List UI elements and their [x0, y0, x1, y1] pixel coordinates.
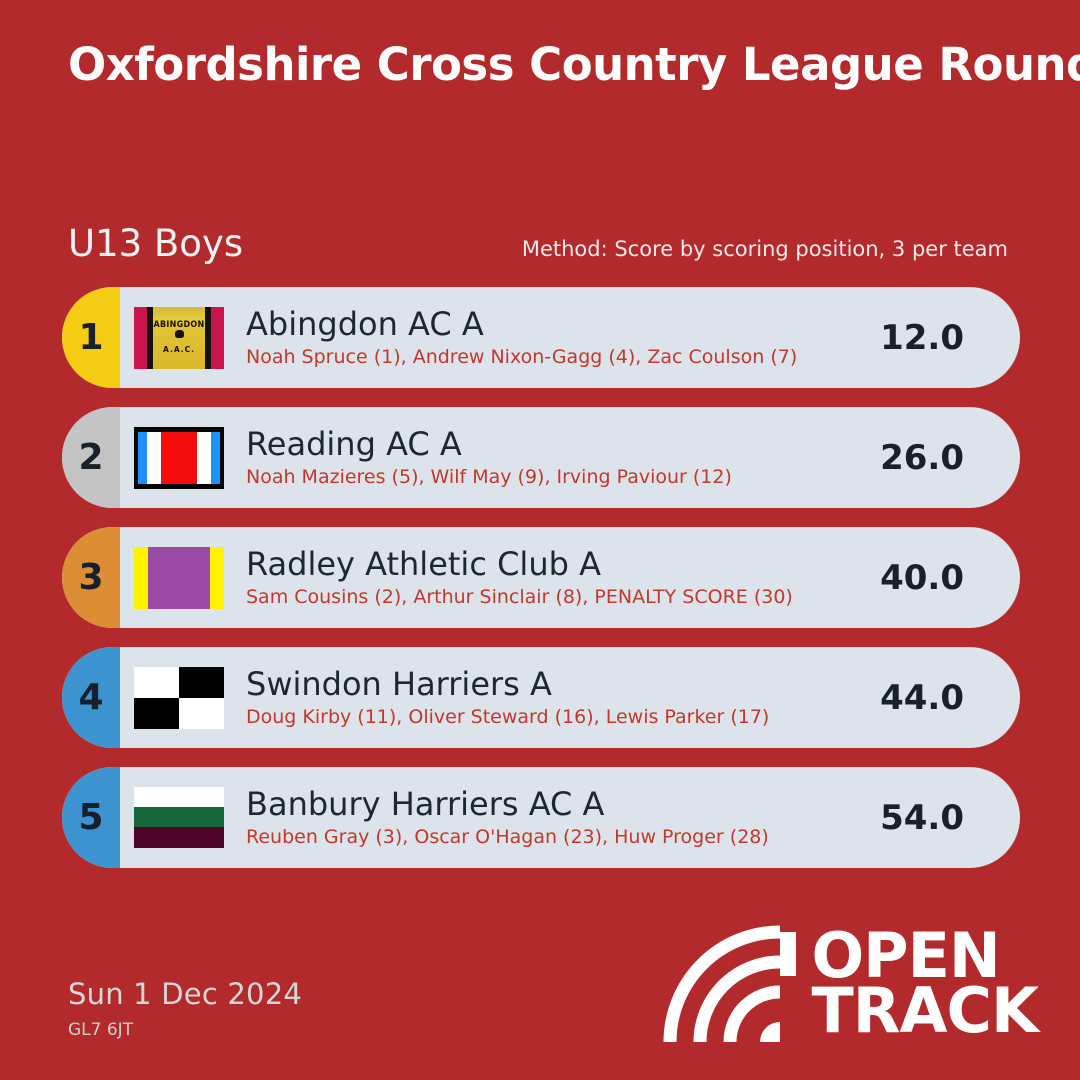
- abingdon-vest: ABINGDONA.A.C.: [134, 307, 224, 369]
- vest-band: [134, 787, 224, 807]
- team-name: Radley Athletic Club A: [246, 547, 880, 583]
- vest-stripe: [147, 432, 161, 484]
- vest-stripe: [211, 432, 220, 484]
- team-score: 40.0: [880, 558, 1020, 598]
- rank-badge: 1: [62, 287, 120, 388]
- vest-band: [134, 807, 224, 827]
- team-athletes: Sam Cousins (2), Arthur Sinclair (8), PE…: [246, 586, 880, 608]
- vest-square: [179, 667, 224, 698]
- rank-badge: 4: [62, 647, 120, 748]
- vest-shoulder: [153, 307, 204, 320]
- team-block: Radley Athletic Club ASam Cousins (2), A…: [246, 547, 880, 608]
- vest-square: [134, 667, 179, 698]
- logo-word-track: TRACK: [811, 984, 1038, 1039]
- team-block: Banbury Harriers AC AReuben Gray (3), Os…: [246, 787, 880, 848]
- category-name: U13 Boys: [68, 222, 243, 265]
- team-name: Banbury Harriers AC A: [246, 787, 880, 823]
- team-name: Abingdon AC A: [246, 307, 880, 343]
- vest-side-panel: [211, 307, 224, 369]
- vest-club-name: ABINGDON: [153, 321, 204, 329]
- rank-badge: 5: [62, 767, 120, 868]
- vest-trim: [205, 307, 212, 369]
- vest-stripe: [161, 432, 197, 484]
- vest-square: [134, 698, 179, 729]
- team-block: Swindon Harriers ADoug Kirby (11), Olive…: [246, 667, 880, 728]
- swindon-vest: [134, 667, 224, 729]
- team-score: 12.0: [880, 318, 1020, 358]
- logo-wordmark: OPEN TRACK: [811, 929, 1038, 1038]
- track-lanes-icon: [662, 924, 797, 1044]
- vest-stripe: [197, 432, 211, 484]
- team-score: 54.0: [880, 798, 1020, 838]
- footer: Sun 1 Dec 2024 GL7 6JT: [68, 977, 302, 1040]
- team-score: 26.0: [880, 438, 1020, 478]
- rank-badge: 2: [62, 407, 120, 508]
- team-name: Swindon Harriers A: [246, 667, 880, 703]
- team-athletes: Noah Mazieres (5), Wilf May (9), Irving …: [246, 466, 880, 488]
- opentrack-logo: OPEN TRACK: [662, 924, 1038, 1044]
- team-block: Reading AC ANoah Mazieres (5), Wilf May …: [246, 427, 880, 488]
- vest-band: [134, 827, 224, 848]
- result-row[interactable]: 3Radley Athletic Club ASam Cousins (2), …: [62, 527, 1020, 628]
- team-athletes: Noah Spruce (1), Andrew Nixon-Gagg (4), …: [246, 346, 880, 368]
- result-graphic: Oxfordshire Cross Country League Round 2…: [0, 0, 1080, 1080]
- vest-club-initials: A.A.C.: [163, 346, 195, 354]
- team-athletes: Doug Kirby (11), Oliver Steward (16), Le…: [246, 706, 880, 728]
- rank-badge: 3: [62, 527, 120, 628]
- result-row[interactable]: 4Swindon Harriers ADoug Kirby (11), Oliv…: [62, 647, 1020, 748]
- result-row[interactable]: 5Banbury Harriers AC AReuben Gray (3), O…: [62, 767, 1020, 868]
- vest-stripe: [210, 547, 224, 609]
- event-date: Sun 1 Dec 2024: [68, 977, 302, 1011]
- result-row[interactable]: 2Reading AC ANoah Mazieres (5), Wilf May…: [62, 407, 1020, 508]
- team-score: 44.0: [880, 678, 1020, 718]
- vest-side-panel: [134, 307, 147, 369]
- team-block: Abingdon AC ANoah Spruce (1), Andrew Nix…: [246, 307, 880, 368]
- scoring-method-text: Method: Score by scoring position, 3 per…: [522, 237, 1008, 261]
- vest-square: [179, 698, 224, 729]
- vest-body: ABINGDONA.A.C.: [153, 307, 204, 369]
- radley-vest: [134, 547, 224, 609]
- category-bar: U13 Boys Method: Score by scoring positi…: [0, 222, 1080, 265]
- results-list: 1ABINGDONA.A.C.Abingdon AC ANoah Spruce …: [0, 287, 1080, 868]
- banbury-vest: [134, 787, 224, 849]
- vest-stripe: [134, 547, 148, 609]
- reading-vest: [134, 427, 224, 489]
- vest-stripe: [138, 432, 147, 484]
- vest-trim: [147, 307, 154, 369]
- team-name: Reading AC A: [246, 427, 880, 463]
- vest-crest-icon: [175, 330, 184, 338]
- result-row[interactable]: 1ABINGDONA.A.C.Abingdon AC ANoah Spruce …: [62, 287, 1020, 388]
- vest-stripe: [148, 547, 209, 609]
- event-venue-postcode: GL7 6JT: [68, 1020, 302, 1040]
- header: Oxfordshire Cross Country League Round 2: [0, 0, 1080, 92]
- team-athletes: Reuben Gray (3), Oscar O'Hagan (23), Huw…: [246, 826, 880, 848]
- page-title: Oxfordshire Cross Country League Round 2: [68, 38, 1020, 92]
